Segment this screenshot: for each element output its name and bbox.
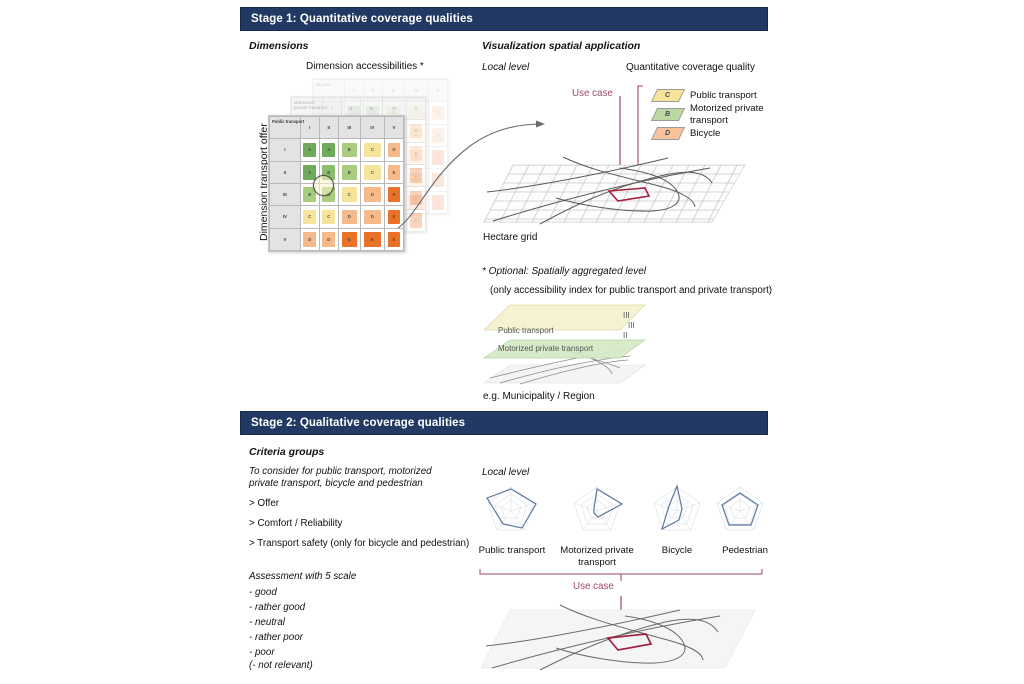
stage2-hectare-grid-visual: [0, 0, 1024, 684]
figure-page: Stage 1: Quantitative coverage qualities…: [0, 0, 1024, 684]
